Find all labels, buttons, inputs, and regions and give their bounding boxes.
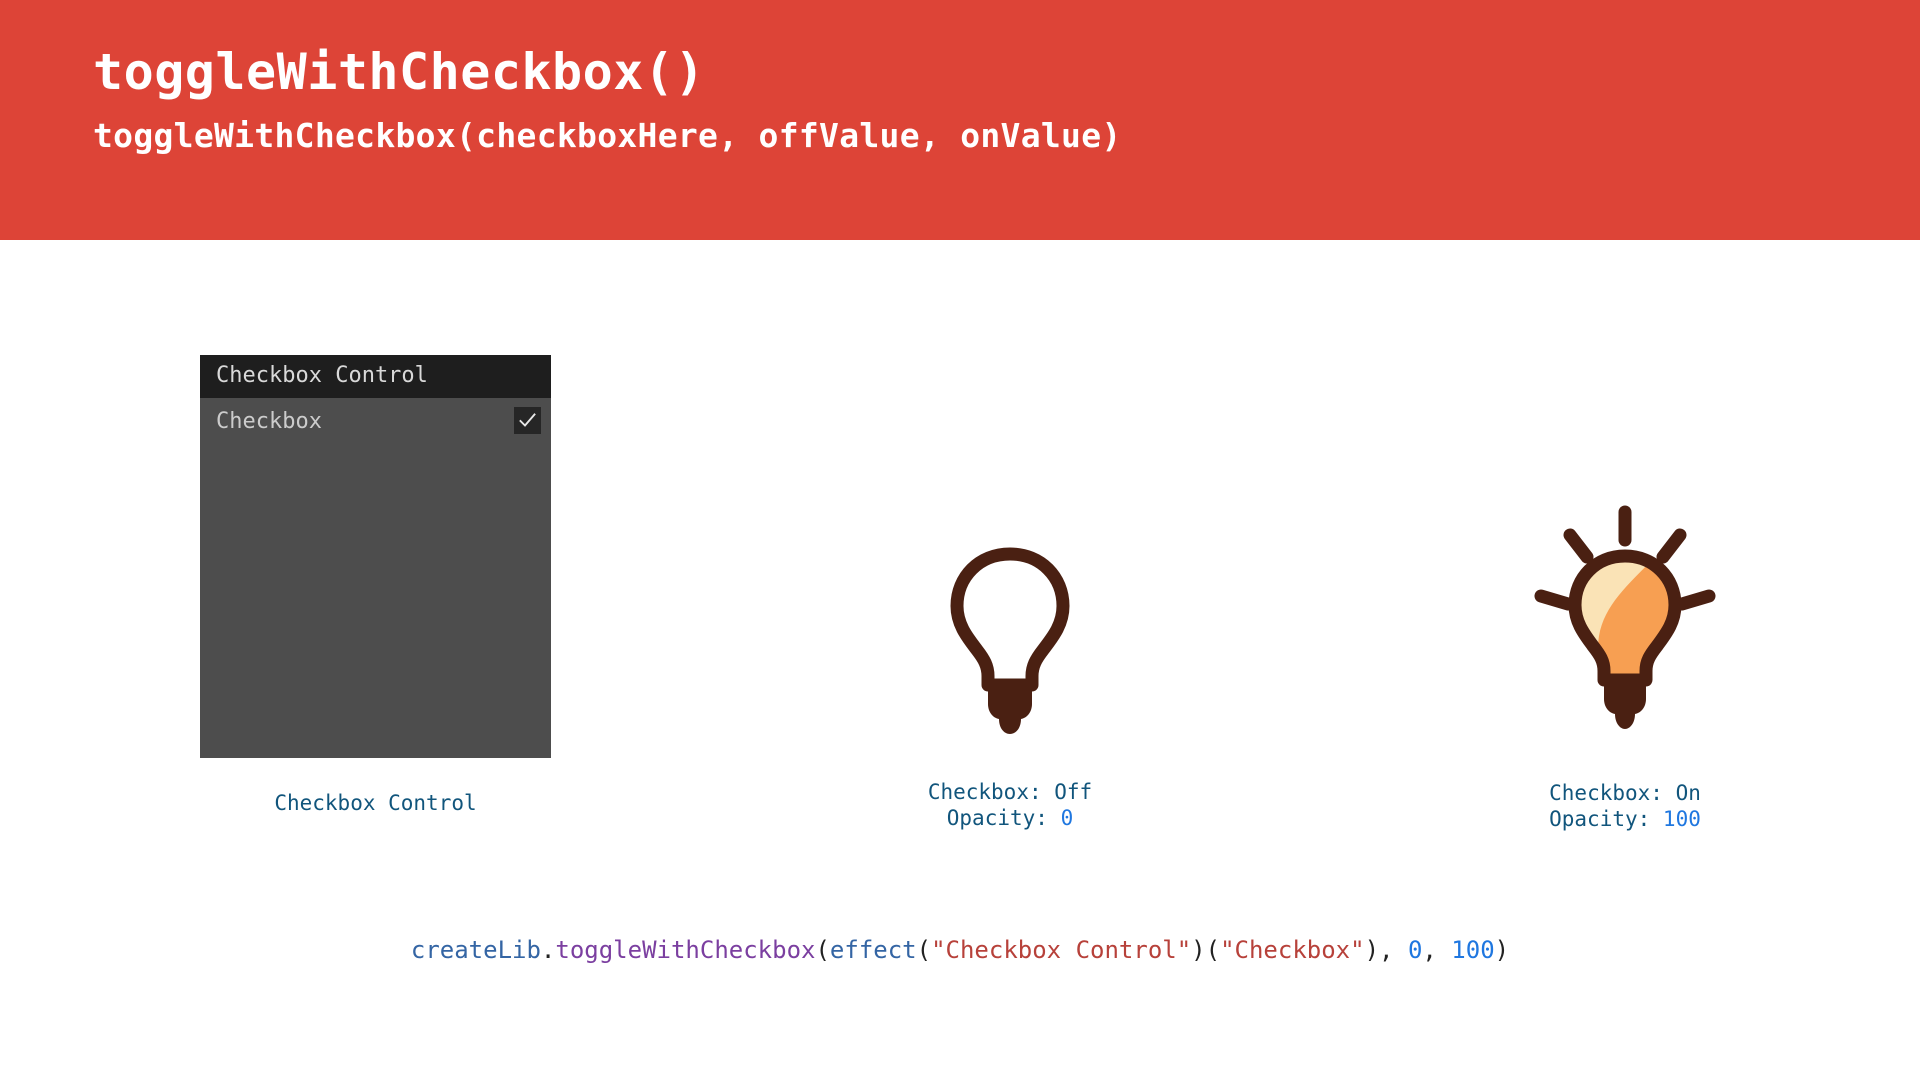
bulb-on-state-text: Checkbox: On [1549, 781, 1701, 805]
header-banner: toggleWithCheckbox() toggleWithCheckbox(… [0, 0, 1920, 240]
bulb-on-art-wrap [1450, 480, 1800, 740]
effect-panel-title: Checkbox Control [216, 365, 428, 387]
code-token-function: toggleWithCheckbox [555, 936, 815, 964]
checkbox-property-label: Checkbox [216, 411, 322, 433]
code-token-punct: ( [815, 936, 829, 964]
code-token-punct: . [541, 936, 555, 964]
code-token-object: createLib [411, 936, 541, 964]
checkbox-toggle[interactable] [514, 407, 541, 434]
code-token-punct: ( [917, 936, 931, 964]
bulb-off-opacity-value: 0 [1061, 806, 1074, 830]
code-token-punct: , [1422, 936, 1451, 964]
bulb-off-demo: Checkbox: Off Opacity: 0 [835, 540, 1185, 832]
code-token-number: 100 [1451, 936, 1494, 964]
checkbox-property-row: Checkbox [200, 398, 551, 446]
code-token-string: "Checkbox" [1220, 936, 1365, 964]
code-token-object: effect [830, 936, 917, 964]
function-signature: toggleWithCheckbox(checkboxHere, offValu… [93, 119, 1122, 152]
bulb-on-caption: Checkbox: On Opacity: 100 [1450, 780, 1800, 833]
bulb-on-opacity-label: Opacity: [1549, 807, 1663, 831]
code-token-number: 0 [1408, 936, 1422, 964]
bulb-off-state-text: Checkbox: Off [928, 780, 1092, 804]
lightbulb-off-icon [943, 546, 1077, 740]
bulb-off-opacity-label: Opacity: [947, 806, 1061, 830]
checkmark-icon [517, 410, 538, 431]
bulb-on-opacity-value: 100 [1663, 807, 1701, 831]
code-example-line: createLib.toggleWithCheckbox(effect("Che… [0, 938, 1920, 962]
bulb-off-caption: Checkbox: Off Opacity: 0 [835, 779, 1185, 832]
lightbulb-on-icon [1527, 504, 1723, 740]
checkbox-control-caption: Checkbox Control [200, 790, 551, 816]
code-token-punct: ), [1365, 936, 1408, 964]
page-title: toggleWithCheckbox() [93, 47, 705, 97]
code-token-punct: ) [1495, 936, 1509, 964]
bulb-on-demo: Checkbox: On Opacity: 100 [1450, 480, 1800, 833]
code-token-string: "Checkbox Control" [931, 936, 1191, 964]
bulb-off-art-wrap [835, 540, 1185, 740]
effect-control-panel: Checkbox Control Checkbox [200, 355, 551, 758]
checkbox-control-caption-block: Checkbox Control [200, 790, 551, 816]
code-token-punct: )( [1191, 936, 1220, 964]
effect-panel-titlebar: Checkbox Control [200, 355, 551, 398]
